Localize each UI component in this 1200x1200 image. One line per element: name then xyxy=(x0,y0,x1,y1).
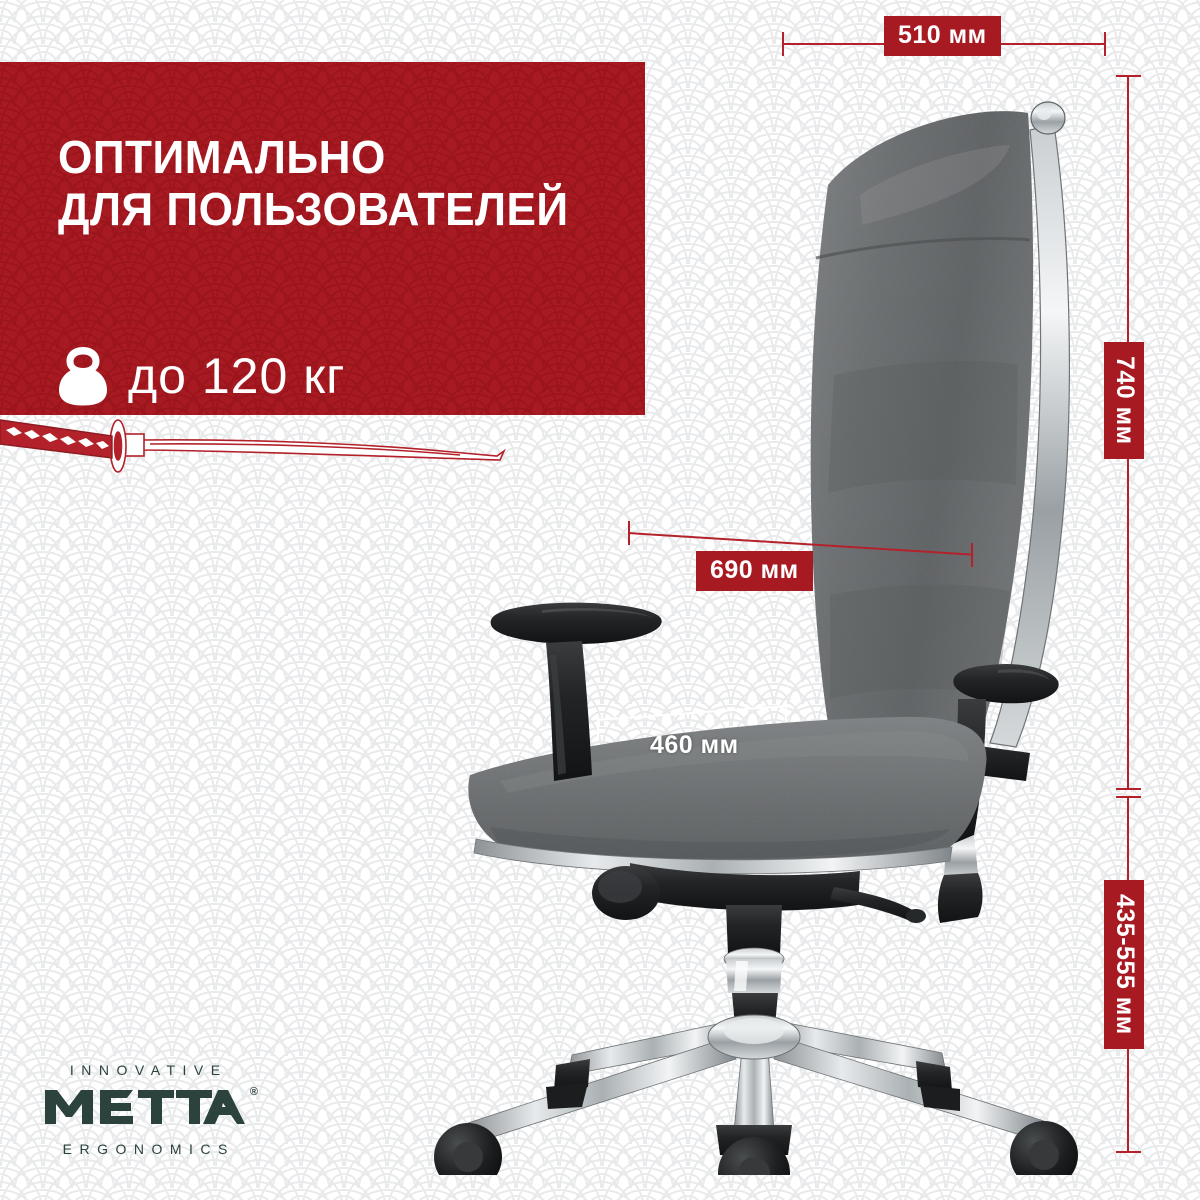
dimension-tick-back-height-bottom xyxy=(1116,788,1141,790)
headline-line-1: ОПТИМАЛЬНО xyxy=(58,131,386,183)
weight-capacity-row: до 120 кг xyxy=(58,345,345,407)
dimension-tick-back-height-top xyxy=(1116,75,1141,77)
dimension-label-seat-depth: 460 мм xyxy=(650,733,739,758)
dimension-tick-seat-depth-right xyxy=(785,700,787,722)
dimension-label-overall-width: 690 мм xyxy=(696,551,813,591)
weight-capacity-label: до 120 кг xyxy=(128,351,345,401)
dimension-label-width: 510 мм xyxy=(884,16,1001,56)
headline-line-2: ДЛЯ ПОЛЬЗОВАТЕЛЕЙ xyxy=(58,184,569,236)
promo-banner: ОПТИМАЛЬНО ДЛЯ ПОЛЬЗОВАТЕЛЕЙ до 120 кг xyxy=(0,62,645,415)
brand-logo: INNOVATIVE ® ERGONOMICS xyxy=(30,1062,260,1157)
dimension-tick-seat-depth-left xyxy=(597,716,599,738)
dimension-tick-seat-height-bottom xyxy=(1116,1151,1141,1153)
dimension-label-back-height: 740 мм xyxy=(1104,342,1144,459)
dimension-tick-seat-height-top xyxy=(1116,796,1141,798)
dimension-tick-overall-width-right xyxy=(971,543,973,567)
registered-trademark-symbol: ® xyxy=(250,1086,258,1098)
dimension-tick-width-left xyxy=(782,32,784,56)
logo-wordmark-wrap: ® xyxy=(30,1084,260,1133)
dimension-label-seat-height: 435-555 мм xyxy=(1104,880,1144,1049)
kettlebell-icon xyxy=(58,345,108,407)
logo-subtitle: ERGONOMICS xyxy=(30,1141,260,1157)
dimension-tick-overall-width-left xyxy=(628,521,630,545)
infographic-canvas: ОПТИМАЛЬНО ДЛЯ ПОЛЬЗОВАТЕЛЕЙ до 120 кг xyxy=(0,0,1200,1200)
dimension-tick-width-right xyxy=(1104,32,1106,56)
banner-headline: ОПТИМАЛЬНО ДЛЯ ПОЛЬЗОВАТЕЛЕЙ xyxy=(58,132,569,235)
katana-sword-icon xyxy=(0,410,560,480)
metta-wordmark-icon xyxy=(45,1084,245,1128)
logo-kicker: INNOVATIVE xyxy=(30,1062,260,1078)
